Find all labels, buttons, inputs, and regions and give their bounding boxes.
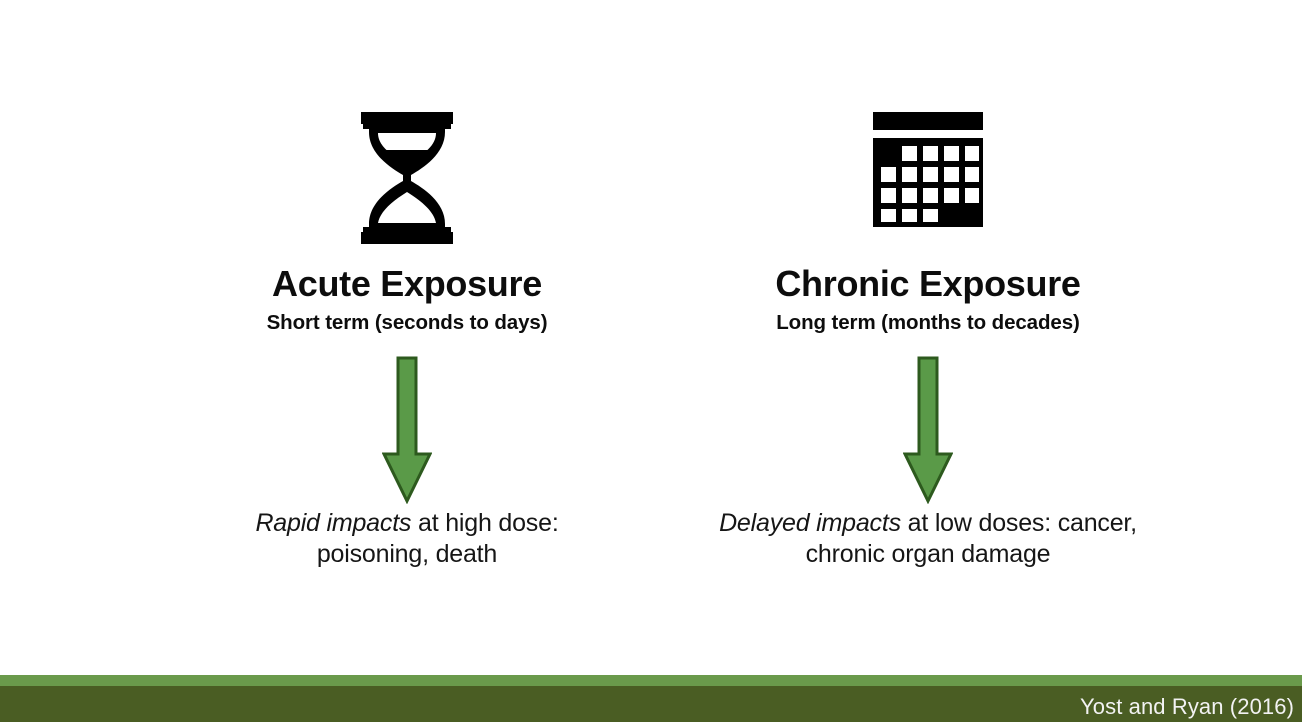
caption-emphasis-chronic: Delayed impacts [719,509,901,537]
heading-acute-exposure: Acute Exposure [197,265,617,303]
caption-chronic-exposure: Delayed impacts at low doses: cancer, ch… [718,508,1138,569]
hourglass-icon [197,112,617,252]
heading-chronic-exposure: Chronic Exposure [718,265,1138,303]
subheading-acute-exposure: Short term (seconds to days) [197,311,617,335]
column-chronic-exposure: Chronic Exposure Long term (months to de… [718,0,1138,660]
down-arrow-icon-chronic [718,356,1138,504]
footer-bar: Yost and Ryan (2016) [0,675,1302,722]
down-arrow-icon-acute [197,356,617,504]
caption-acute-exposure: Rapid impacts at high dose: poisoning, d… [197,508,617,569]
footer-citation: Yost and Ryan (2016) [1080,694,1294,720]
column-acute-exposure: Acute Exposure Short term (seconds to da… [197,0,617,660]
slide-canvas: Acute Exposure Short term (seconds to da… [0,0,1302,722]
calendar-icon [718,112,1138,252]
caption-emphasis-acute: Rapid impacts [255,509,411,537]
subheading-chronic-exposure: Long term (months to decades) [718,311,1138,335]
footer-accent-stripe [0,675,1302,686]
